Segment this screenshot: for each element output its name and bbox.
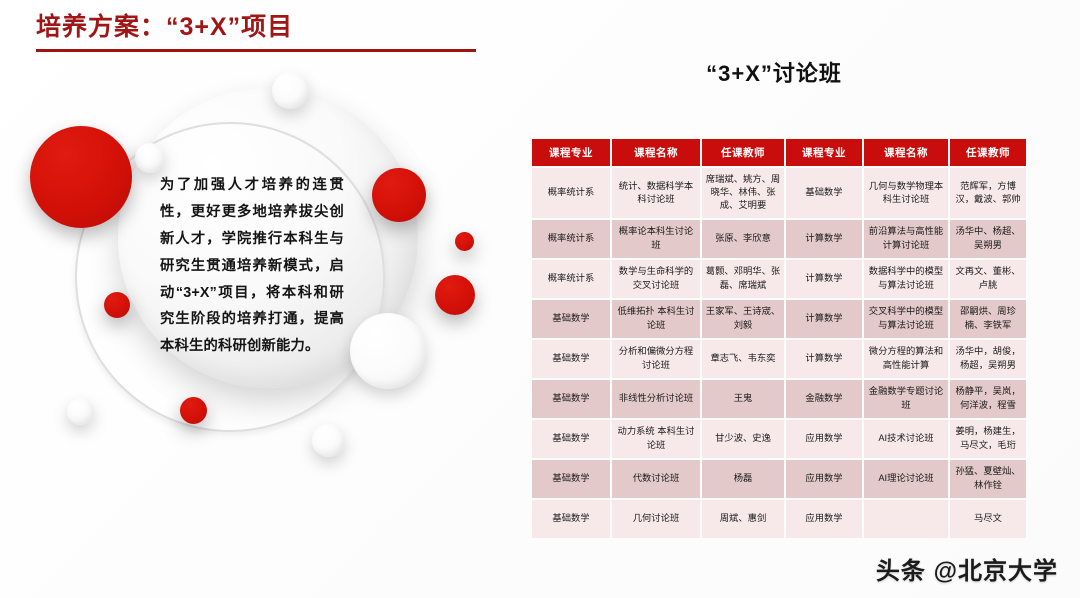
table-cell: 基础数学 bbox=[532, 380, 610, 418]
white-circle-left bbox=[135, 143, 165, 173]
table-cell: 章志飞、韦东奕 bbox=[702, 340, 784, 378]
table-cell: 基础数学 bbox=[532, 300, 610, 338]
table-cell bbox=[864, 500, 948, 538]
table-cell: 应用数学 bbox=[786, 460, 862, 498]
col-header-major-right: 课程专业 bbox=[786, 139, 862, 166]
slide-root: 培养方案：“3+X”项目 为了加强人才培养的连贯性，更好更多地培养拔尖创新人才，… bbox=[0, 0, 1080, 598]
table-cell: 微分方程的算法和高性能计算 bbox=[864, 340, 948, 378]
red-circle-small-left bbox=[104, 292, 130, 318]
page-title: 培养方案：“3+X”项目 bbox=[36, 12, 486, 43]
white-circle-bottom-left bbox=[67, 398, 94, 425]
table-cell: 交叉科学中的模型与算法讨论班 bbox=[864, 300, 948, 338]
table-cell: 基础数学 bbox=[532, 500, 610, 538]
table-header-row: 课程专业 课程名称 任课教师 课程专业 课程名称 任课教师 bbox=[532, 139, 1026, 166]
table-row: 基础数学几何讨论班周斌、惠剑应用数学马尽文 bbox=[532, 500, 1026, 538]
section-title-discussion-classes: “3+X”讨论班 bbox=[530, 56, 1018, 88]
table-cell: 非线性分析讨论班 bbox=[612, 380, 700, 418]
table-cell: 基础数学 bbox=[532, 420, 610, 458]
red-circle-large bbox=[30, 126, 132, 228]
table-cell: 几何讨论班 bbox=[612, 500, 700, 538]
table-cell: 张原、李欣意 bbox=[702, 220, 784, 258]
table-cell: 动力系统 本科生讨论班 bbox=[612, 420, 700, 458]
table-cell: 代数讨论班 bbox=[612, 460, 700, 498]
table-cell: 统计、数据科学本科讨论班 bbox=[612, 168, 700, 218]
table-cell: 周斌、惠剑 bbox=[702, 500, 784, 538]
table-row: 基础数学代数讨论班杨磊应用数学AI理论讨论班孙猛、夏壁灿、林作铨 bbox=[532, 460, 1026, 498]
table-cell: 计算数学 bbox=[786, 300, 862, 338]
table-cell: 汤华中，胡俊，杨超，吴朔男 bbox=[950, 340, 1026, 378]
table-cell: AI理论讨论班 bbox=[864, 460, 948, 498]
table-cell: 几何与数学物理本科生讨论班 bbox=[864, 168, 948, 218]
white-circle-bottom bbox=[312, 424, 345, 457]
table-cell: 杨静平，吴岚，何洋波，程雪 bbox=[950, 380, 1026, 418]
table-row: 概率统计系数学与生命科学的交叉讨论班葛颢、邓明华、张磊、席瑞斌计算数学数据科学中… bbox=[532, 260, 1026, 298]
col-header-teacher-left: 任课教师 bbox=[702, 139, 784, 166]
table-cell: 杨磊 bbox=[702, 460, 784, 498]
col-header-course-left: 课程名称 bbox=[612, 139, 700, 166]
course-table-wrapper: 课程专业 课程名称 任课教师 课程专业 课程名称 任课教师 概率统计系统计、数据… bbox=[530, 137, 1018, 540]
table-cell: 王鬼 bbox=[702, 380, 784, 418]
red-circle-small-right bbox=[455, 232, 474, 251]
table-cell: 王家军、王诗宬、刘毅 bbox=[702, 300, 784, 338]
table-cell: 汤华中、杨超、吴朔男 bbox=[950, 220, 1026, 258]
table-cell: 计算数学 bbox=[786, 260, 862, 298]
table-cell: 基础数学 bbox=[532, 460, 610, 498]
white-circle-right bbox=[350, 313, 426, 389]
table-cell: 应用数学 bbox=[786, 420, 862, 458]
table-row: 概率统计系统计、数据科学本科讨论班席瑞斌、姚方、周晓华、林伟、张成、艾明要基础数… bbox=[532, 168, 1026, 218]
table-cell: 基础数学 bbox=[532, 340, 610, 378]
col-header-course-right: 课程名称 bbox=[864, 139, 948, 166]
white-circle-top bbox=[272, 72, 309, 109]
table-cell: 文再文、董彬、卢朓 bbox=[950, 260, 1026, 298]
title-underline-rule bbox=[36, 49, 476, 52]
table-cell: 范辉军，方博汉，戴波、郭帅 bbox=[950, 168, 1026, 218]
table-cell: 计算数学 bbox=[786, 340, 862, 378]
table-cell: 孙猛、夏壁灿、林作铨 bbox=[950, 460, 1026, 498]
table-cell: 姜明，杨建生，马尽文，毛珩 bbox=[950, 420, 1026, 458]
table-cell: 金融数学 bbox=[786, 380, 862, 418]
red-circle-medium-right bbox=[372, 168, 426, 222]
page-title-block: 培养方案：“3+X”项目 bbox=[36, 12, 486, 52]
table-cell: AI技术讨论班 bbox=[864, 420, 948, 458]
table-cell: 分析和偏微分方程讨论班 bbox=[612, 340, 700, 378]
table-cell: 概率统计系 bbox=[532, 260, 610, 298]
table-cell: 概率统计系 bbox=[532, 168, 610, 218]
table-cell: 席瑞斌、姚方、周晓华、林伟、张成、艾明要 bbox=[702, 168, 784, 218]
course-table-head: 课程专业 课程名称 任课教师 课程专业 课程名称 任课教师 bbox=[532, 139, 1026, 166]
table-cell: 基础数学 bbox=[786, 168, 862, 218]
table-cell: 邵嗣烘、周珍楠、李铁军 bbox=[950, 300, 1026, 338]
course-table: 课程专业 课程名称 任课教师 课程专业 课程名称 任课教师 概率统计系统计、数据… bbox=[530, 137, 1028, 540]
table-cell: 数据科学中的模型与算法讨论班 bbox=[864, 260, 948, 298]
table-cell: 应用数学 bbox=[786, 500, 862, 538]
table-cell: 概率论本科生讨论班 bbox=[612, 220, 700, 258]
table-row: 基础数学非线性分析讨论班王鬼金融数学金融数学专题讨论班杨静平，吴岚，何洋波，程雪 bbox=[532, 380, 1026, 418]
red-circle-small-bottom bbox=[180, 397, 207, 424]
table-cell: 概率统计系 bbox=[532, 220, 610, 258]
course-table-body: 概率统计系统计、数据科学本科讨论班席瑞斌、姚方、周晓华、林伟、张成、艾明要基础数… bbox=[532, 168, 1026, 538]
decorative-circles-group: 为了加强人才培养的连贯性，更好更多地培养拔尖创新人才，学院推行本科生与研究生贯通… bbox=[0, 60, 520, 560]
col-header-teacher-right: 任课教师 bbox=[950, 139, 1026, 166]
table-cell: 前沿算法与高性能计算讨论班 bbox=[864, 220, 948, 258]
table-cell: 金融数学专题讨论班 bbox=[864, 380, 948, 418]
red-circle-medium-lower-right bbox=[435, 275, 475, 315]
table-row: 基础数学低维拓扑 本科生讨论班王家军、王诗宬、刘毅计算数学交叉科学中的模型与算法… bbox=[532, 300, 1026, 338]
table-cell: 数学与生命科学的交叉讨论班 bbox=[612, 260, 700, 298]
table-cell: 马尽文 bbox=[950, 500, 1026, 538]
table-row: 概率统计系概率论本科生讨论班张原、李欣意计算数学前沿算法与高性能计算讨论班汤华中… bbox=[532, 220, 1026, 258]
footer-watermark: 头条 @北京大学 bbox=[876, 551, 1058, 586]
table-cell: 计算数学 bbox=[786, 220, 862, 258]
col-header-major-left: 课程专业 bbox=[532, 139, 610, 166]
table-row: 基础数学分析和偏微分方程讨论班章志飞、韦东奕计算数学微分方程的算法和高性能计算汤… bbox=[532, 340, 1026, 378]
table-cell: 甘少波、史逸 bbox=[702, 420, 784, 458]
table-row: 基础数学动力系统 本科生讨论班甘少波、史逸应用数学AI技术讨论班姜明，杨建生，马… bbox=[532, 420, 1026, 458]
table-cell: 葛颢、邓明华、张磊、席瑞斌 bbox=[702, 260, 784, 298]
intro-paragraph: 为了加强人才培养的连贯性，更好更多地培养拔尖创新人才，学院推行本科生与研究生贯通… bbox=[160, 172, 344, 360]
table-cell: 低维拓扑 本科生讨论班 bbox=[612, 300, 700, 338]
